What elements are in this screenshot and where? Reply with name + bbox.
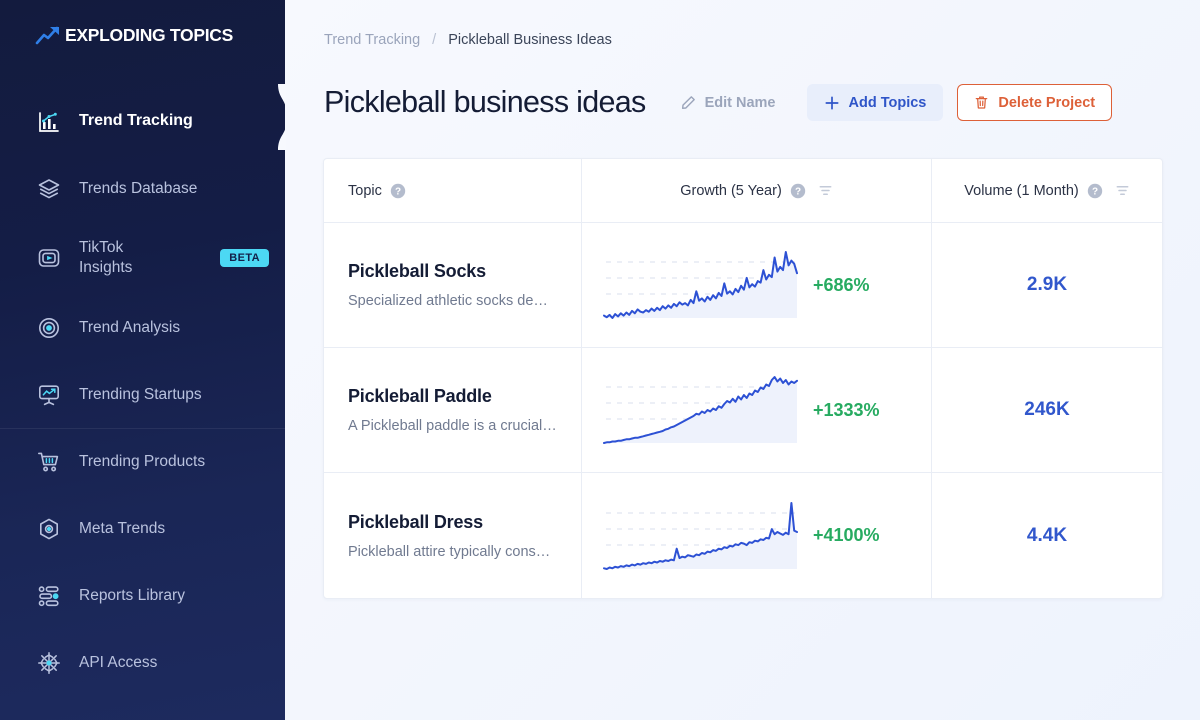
column-header-volume: Volume (1 Month) ? <box>932 159 1162 222</box>
growth-value: +686% <box>813 275 870 296</box>
table-row[interactable]: Pickleball Socks Specialized athletic so… <box>324 223 1162 348</box>
sidebar-item-label: Trend Tracking <box>79 111 193 131</box>
sidebar-item-label: API Access <box>79 653 157 673</box>
cell-volume: 2.9K <box>932 223 1162 347</box>
sidebar-item-label: Trending Products <box>79 452 205 472</box>
cell-growth: +686% <box>582 223 932 347</box>
svg-text:?: ? <box>1092 186 1098 197</box>
sidebar-item-label: Reports Library <box>79 586 185 606</box>
delete-project-label: Delete Project <box>998 95 1095 111</box>
column-header-growth: Growth (5 Year) ? <box>582 159 932 222</box>
topic-name: Pickleball Paddle <box>348 386 563 407</box>
add-topics-label: Add Topics <box>849 95 927 111</box>
edit-name-label: Edit Name <box>705 95 776 111</box>
volume-value: 4.4K <box>1027 525 1067 547</box>
sort-filter-icon[interactable] <box>818 183 833 198</box>
topic-description: A Pickleball paddle is a crucial… <box>348 418 563 434</box>
sidebar: EXPLODING TOPICS Trend Tracki <box>0 0 285 720</box>
help-icon[interactable]: ? <box>390 183 406 199</box>
volume-value: 246K <box>1024 399 1069 421</box>
sidebar-item-label: Trends Database <box>79 179 197 199</box>
topic-name: Pickleball Dress <box>348 512 563 533</box>
pencil-icon <box>681 95 696 110</box>
svg-text:?: ? <box>795 186 801 197</box>
beta-badge: BETA <box>220 249 269 267</box>
sidebar-item-label: Trending Startups <box>79 385 202 405</box>
svg-text:?: ? <box>395 186 401 197</box>
sidebar-item-label: Meta Trends <box>79 519 165 539</box>
brand-logo[interactable]: EXPLODING TOPICS <box>0 24 285 46</box>
column-header-label: Topic <box>348 183 382 199</box>
sidebar-item-label: Trend Analysis <box>79 318 180 338</box>
topic-description: Pickleball attire typically cons… <box>348 544 563 560</box>
breadcrumb-current: Pickleball Business Ideas <box>448 32 612 48</box>
breadcrumb-separator: / <box>432 32 436 48</box>
cell-topic[interactable]: Pickleball Socks Specialized athletic so… <box>324 223 582 347</box>
table-row[interactable]: Pickleball Dress Pickleball attire typic… <box>324 473 1162 598</box>
sort-filter-icon[interactable] <box>1115 183 1130 198</box>
brand-name: EXPLODING TOPICS <box>65 25 233 46</box>
layers-icon <box>35 175 62 202</box>
target-circle-icon <box>35 314 62 341</box>
video-play-icon <box>35 245 62 272</box>
sidebar-nav: Trend Tracking Trends Database <box>0 88 285 696</box>
help-icon[interactable]: ? <box>1087 183 1103 199</box>
growth-sparkline <box>598 369 803 451</box>
table-row[interactable]: Pickleball Paddle A Pickleball paddle is… <box>324 348 1162 473</box>
title-row: Pickleball business ideas Edit Name <box>323 84 1162 121</box>
topic-name: Pickleball Socks <box>348 261 563 282</box>
topics-table: Topic ? Growth (5 Year) <box>323 158 1163 599</box>
growth-value: +1333% <box>813 400 880 421</box>
add-topics-button[interactable]: Add Topics <box>807 84 944 121</box>
cell-volume: 4.4K <box>932 473 1162 598</box>
cell-growth: +4100% <box>582 473 932 598</box>
sidebar-item-tiktok-insights[interactable]: TikTok Insights BETA <box>0 222 285 294</box>
presentation-icon <box>35 381 62 408</box>
server-rows-icon <box>35 582 62 609</box>
page-title: Pickleball business ideas <box>324 85 646 120</box>
chart-bars-icon <box>35 108 62 135</box>
app-root: EXPLODING TOPICS Trend Tracki <box>0 0 1200 720</box>
delete-project-button[interactable]: Delete Project <box>957 84 1112 121</box>
column-header-topic: Topic ? <box>324 159 582 222</box>
cell-growth: +1333% <box>582 348 932 472</box>
edit-name-button[interactable]: Edit Name <box>672 84 793 121</box>
title-actions: Edit Name Add Topics <box>672 84 1113 121</box>
sidebar-item-trending-products[interactable]: Trending Products <box>0 428 285 495</box>
growth-value: +4100% <box>813 525 880 546</box>
cell-volume: 246K <box>932 348 1162 472</box>
sidebar-item-trend-analysis[interactable]: Trend Analysis <box>0 294 285 361</box>
breadcrumb-parent[interactable]: Trend Tracking <box>324 32 420 48</box>
growth-sparkline <box>598 244 803 326</box>
topic-description: Specialized athletic socks de… <box>348 293 563 309</box>
cell-topic[interactable]: Pickleball Dress Pickleball attire typic… <box>324 473 582 598</box>
sidebar-item-reports-library[interactable]: Reports Library <box>0 562 285 629</box>
breadcrumb: Trend Tracking / Pickleball Business Ide… <box>323 32 1162 48</box>
main-content: Trend Tracking / Pickleball Business Ide… <box>285 0 1200 720</box>
trash-icon <box>974 95 989 110</box>
sidebar-item-trends-database[interactable]: Trends Database <box>0 155 285 222</box>
help-icon[interactable]: ? <box>790 183 806 199</box>
table-header-row: Topic ? Growth (5 Year) <box>324 159 1162 223</box>
column-header-label: Growth (5 Year) <box>680 183 782 199</box>
sidebar-item-label: TikTok Insights <box>79 238 171 278</box>
sidebar-item-api-access[interactable]: API Access <box>0 629 285 696</box>
shopping-cart-icon <box>35 448 62 475</box>
sidebar-item-trend-tracking[interactable]: Trend Tracking <box>0 88 285 155</box>
growth-sparkline <box>598 495 803 577</box>
sidebar-item-trending-startups[interactable]: Trending Startups <box>0 361 285 428</box>
hexagon-shield-icon <box>35 515 62 542</box>
volume-value: 2.9K <box>1027 274 1067 296</box>
column-header-label: Volume (1 Month) <box>964 183 1078 199</box>
cell-topic[interactable]: Pickleball Paddle A Pickleball paddle is… <box>324 348 582 472</box>
plus-icon <box>824 95 840 111</box>
sidebar-item-meta-trends[interactable]: Meta Trends <box>0 495 285 562</box>
api-node-icon <box>35 649 62 676</box>
trend-arrow-icon <box>35 24 61 46</box>
